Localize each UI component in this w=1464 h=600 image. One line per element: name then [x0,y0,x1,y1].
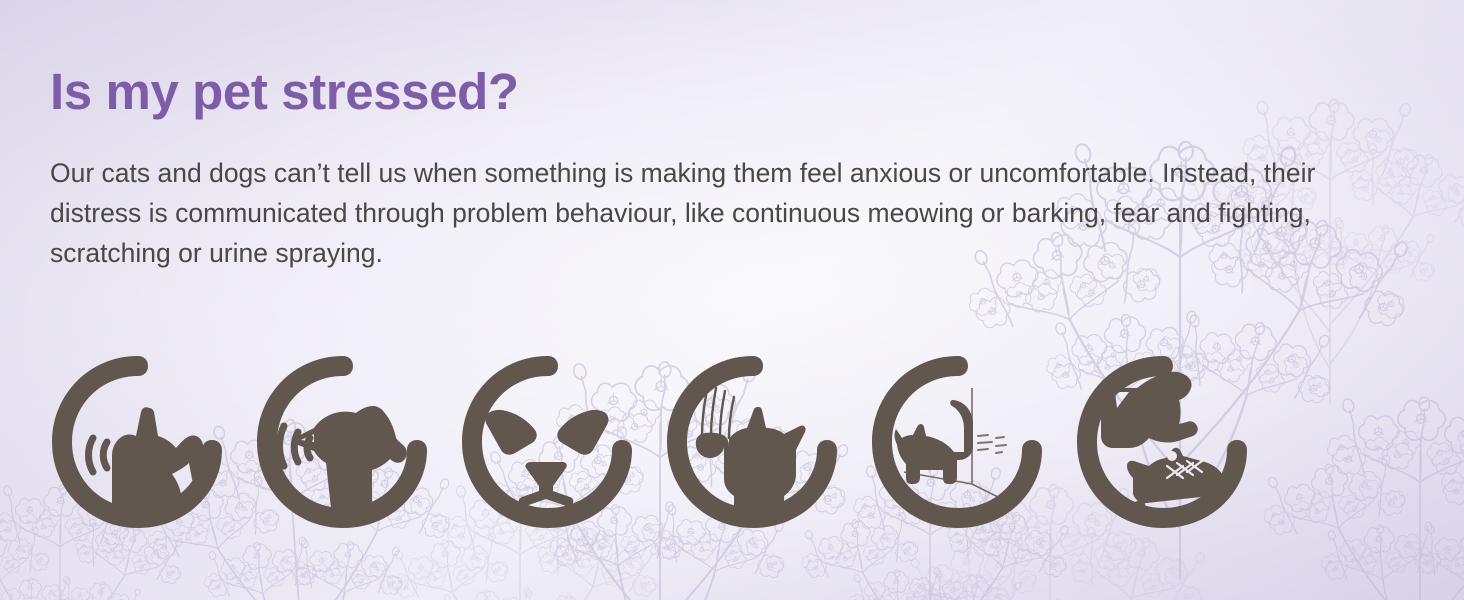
icon-cell-meowing-cat [46,350,251,545]
meowing-cat-icon [46,350,226,540]
pet-stress-banner: Is my pet stressed? Our cats and dogs ca… [0,0,1464,600]
icon-cell-scratching-cat [661,350,866,545]
urine-spraying-cat-icon [866,350,1046,540]
dog-chewing-shoe-icon [1071,350,1251,540]
stress-signs-icon-row [46,350,1286,550]
barking-dog-icon [251,350,431,540]
icon-cell-dog-chewing-shoe [1071,350,1276,545]
icon-cell-barking-dog [251,350,456,545]
scratching-cat-icon [661,350,841,540]
page-title: Is my pet stressed? [50,62,519,122]
icon-cell-urine-spraying-cat [866,350,1071,545]
intro-paragraph: Our cats and dogs can’t tell us when som… [50,153,1410,273]
angry-cat-face-icon [456,350,636,540]
icon-cell-angry-cat-face [456,350,661,545]
